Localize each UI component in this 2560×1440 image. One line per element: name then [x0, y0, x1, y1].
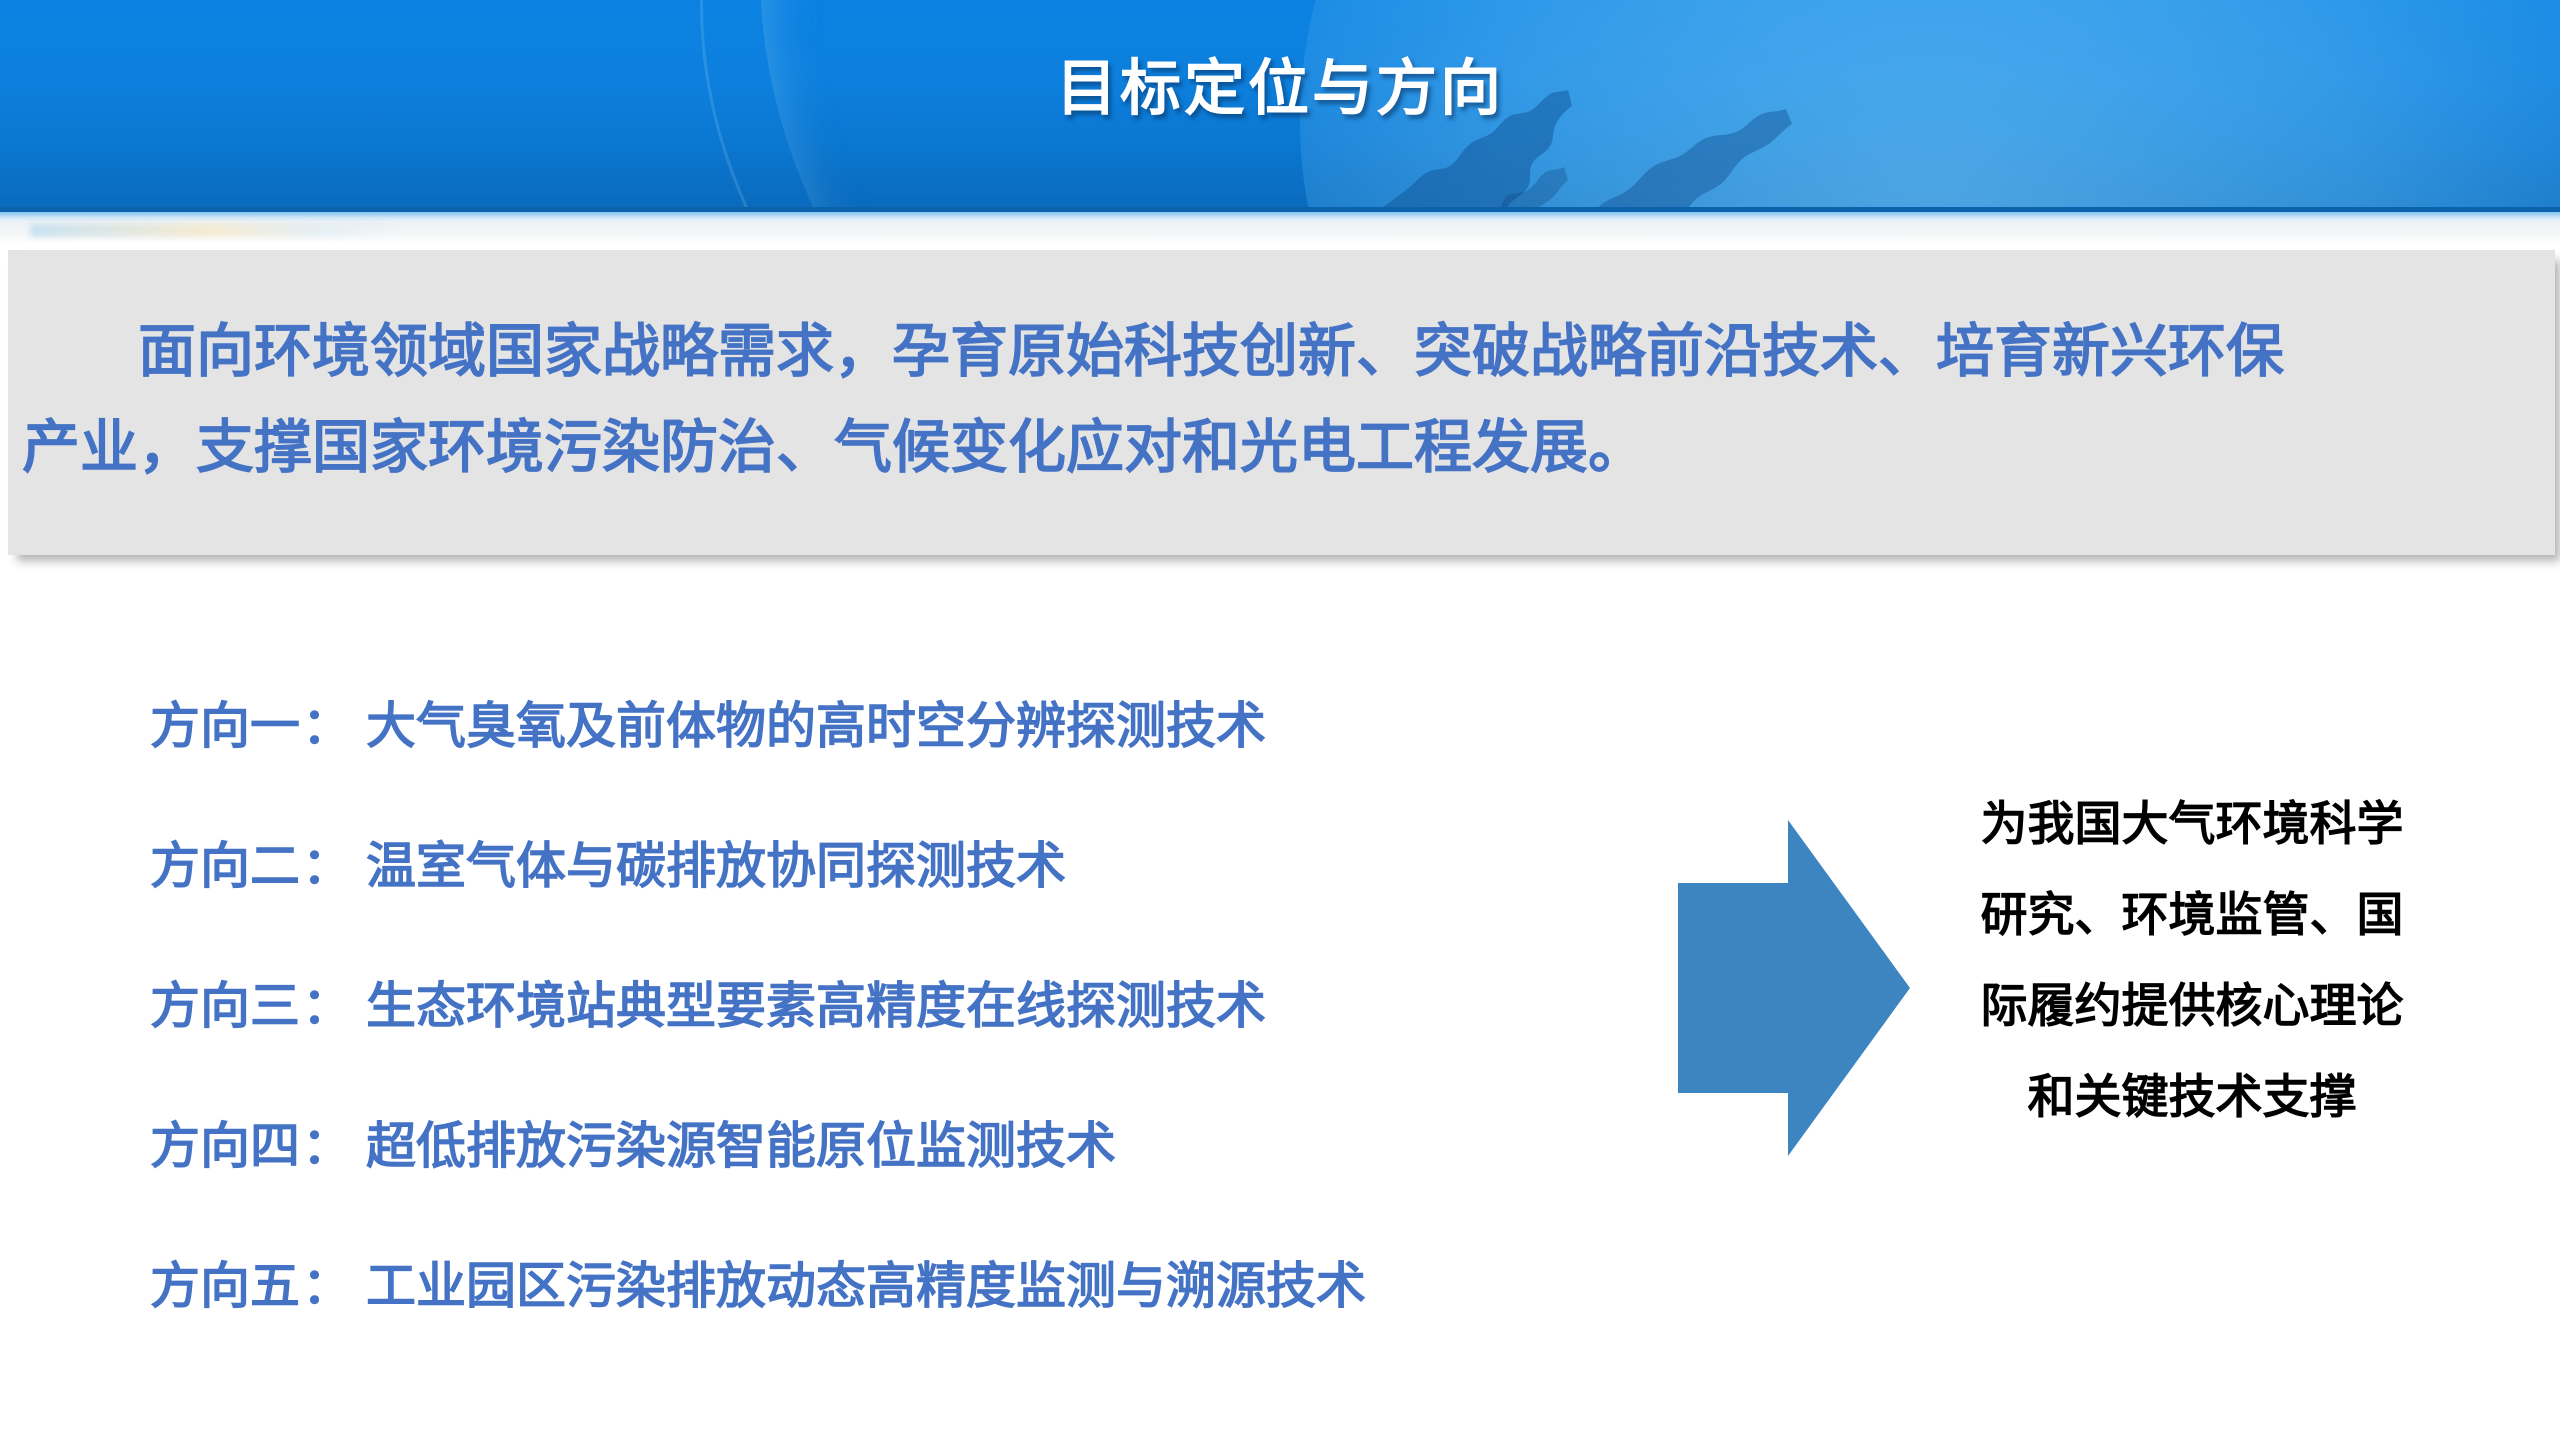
page-title: 目标定位与方向 — [0, 38, 2560, 127]
header-underband-tint — [30, 224, 400, 237]
statement-text: 面向环境领域国家战略需求，孕育原始科技创新、突破战略前沿技术、培育新兴环保 产业… — [22, 304, 2538, 496]
header-banner: 目标定位与方向 — [0, 0, 2560, 222]
direction-label-2: 方向二 — [150, 826, 300, 898]
statement-line-2: 产业，支撑国家环境污染防治、气候变化应对和光电工程发展。 — [22, 400, 2538, 496]
direction-text-4: 超低排放污染源智能原位监测技术 — [366, 1106, 1116, 1178]
direction-item-5[interactable]: 方向五 ： 工业园区污染排放动态高精度监测与溯源技术 — [150, 1246, 1670, 1338]
direction-label-3: 方向三 — [150, 966, 300, 1038]
outcome-line-4: 和关键技术支撑 — [1912, 1051, 2472, 1142]
direction-label-1: 方向一 — [150, 686, 300, 758]
right-arrow-icon — [1678, 820, 1910, 1156]
direction-label-4: 方向四 — [150, 1106, 300, 1178]
direction-text-2: 温室气体与碳排放协同探测技术 — [366, 826, 1066, 898]
direction-separator-3: ： — [300, 966, 366, 1038]
direction-text-1: 大气臭氧及前体物的高时空分辨探测技术 — [366, 686, 1266, 758]
direction-text-5: 工业园区污染排放动态高精度监测与溯源技术 — [366, 1246, 1366, 1318]
direction-item-4[interactable]: 方向四 ： 超低排放污染源智能原位监测技术 — [150, 1106, 1670, 1198]
statement-box: 面向环境领域国家战略需求，孕育原始科技创新、突破战略前沿技术、培育新兴环保 产业… — [8, 250, 2555, 555]
outcome-line-3: 际履约提供核心理论 — [1912, 960, 2472, 1051]
direction-item-1[interactable]: 方向一 ： 大气臭氧及前体物的高时空分辨探测技术 — [150, 686, 1670, 778]
direction-item-3[interactable]: 方向三 ： 生态环境站典型要素高精度在线探测技术 — [150, 966, 1670, 1058]
outcome-line-1: 为我国大气环境科学 — [1912, 778, 2472, 869]
direction-list: 方向一 ： 大气臭氧及前体物的高时空分辨探测技术 方向二 ： 温室气体与碳排放协… — [150, 686, 1670, 1338]
direction-label-5: 方向五 — [150, 1246, 300, 1318]
direction-separator-5: ： — [300, 1246, 366, 1318]
direction-text-3: 生态环境站典型要素高精度在线探测技术 — [366, 966, 1266, 1038]
direction-separator-2: ： — [300, 826, 366, 898]
slide-root: 目标定位与方向 面向环境领域国家战略需求，孕育原始科技创新、突破战略前沿技术、培… — [0, 0, 2560, 1440]
direction-separator-1: ： — [300, 686, 366, 758]
direction-separator-4: ： — [300, 1106, 366, 1178]
direction-item-2[interactable]: 方向二 ： 温室气体与碳排放协同探测技术 — [150, 826, 1670, 918]
outcome-line-2: 研究、环境监管、国 — [1912, 869, 2472, 960]
statement-line-1: 面向环境领域国家战略需求，孕育原始科技创新、突破战略前沿技术、培育新兴环保 — [22, 304, 2538, 400]
header-bottom-light-edge — [0, 212, 2560, 222]
outcome-text: 为我国大气环境科学 研究、环境监管、国 际履约提供核心理论 和关键技术支撑 — [1912, 778, 2472, 1142]
